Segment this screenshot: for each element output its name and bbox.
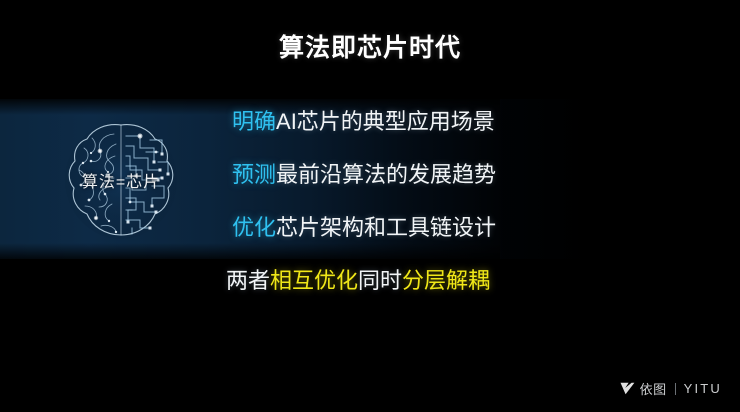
bullet-2-segment-1: 预测 (232, 162, 276, 187)
bullet-3-segment-1: 优化 (232, 215, 276, 240)
bullet-1-segment-1: 明确 (232, 109, 276, 134)
bullet-3-segment-2: 芯片架构和工具链设计 (276, 215, 496, 240)
logo-name-cn: 依图 (640, 379, 667, 398)
bullet-4-segment-1: 两者 (226, 268, 270, 293)
bullet-line-2: 预测最前沿算法的发展趋势 (232, 164, 496, 186)
page-title: 算法即芯片时代 (279, 28, 461, 64)
slide-title-bar: 算法即芯片时代 (0, 0, 740, 92)
bullet-line-4: 两者相互优化同时分层解耦 (226, 270, 490, 292)
logo-name-en: YITU (684, 381, 722, 396)
brand-logo: 依图 YITU (620, 379, 722, 398)
bullet-2-segment-2: 最前沿算法的发展趋势 (276, 162, 496, 187)
bullet-line-1: 明确AI芯片的典型应用场景 (232, 111, 495, 133)
bullet-4-segment-3: 同时 (358, 268, 402, 293)
bullet-4-segment-4: 分层解耦 (402, 268, 490, 293)
bullet-1-segment-2: AI芯片的典型应用场景 (276, 109, 495, 134)
bullet-line-3: 优化芯片架构和工具链设计 (232, 217, 496, 239)
logo-divider (675, 383, 676, 395)
yitu-arrow-icon (620, 382, 635, 395)
bullet-4-segment-2: 相互优化 (270, 268, 358, 293)
presentation-slide: 算法即芯片时代 (0, 0, 740, 412)
figure-caption: 算法=芯片 (62, 168, 180, 192)
